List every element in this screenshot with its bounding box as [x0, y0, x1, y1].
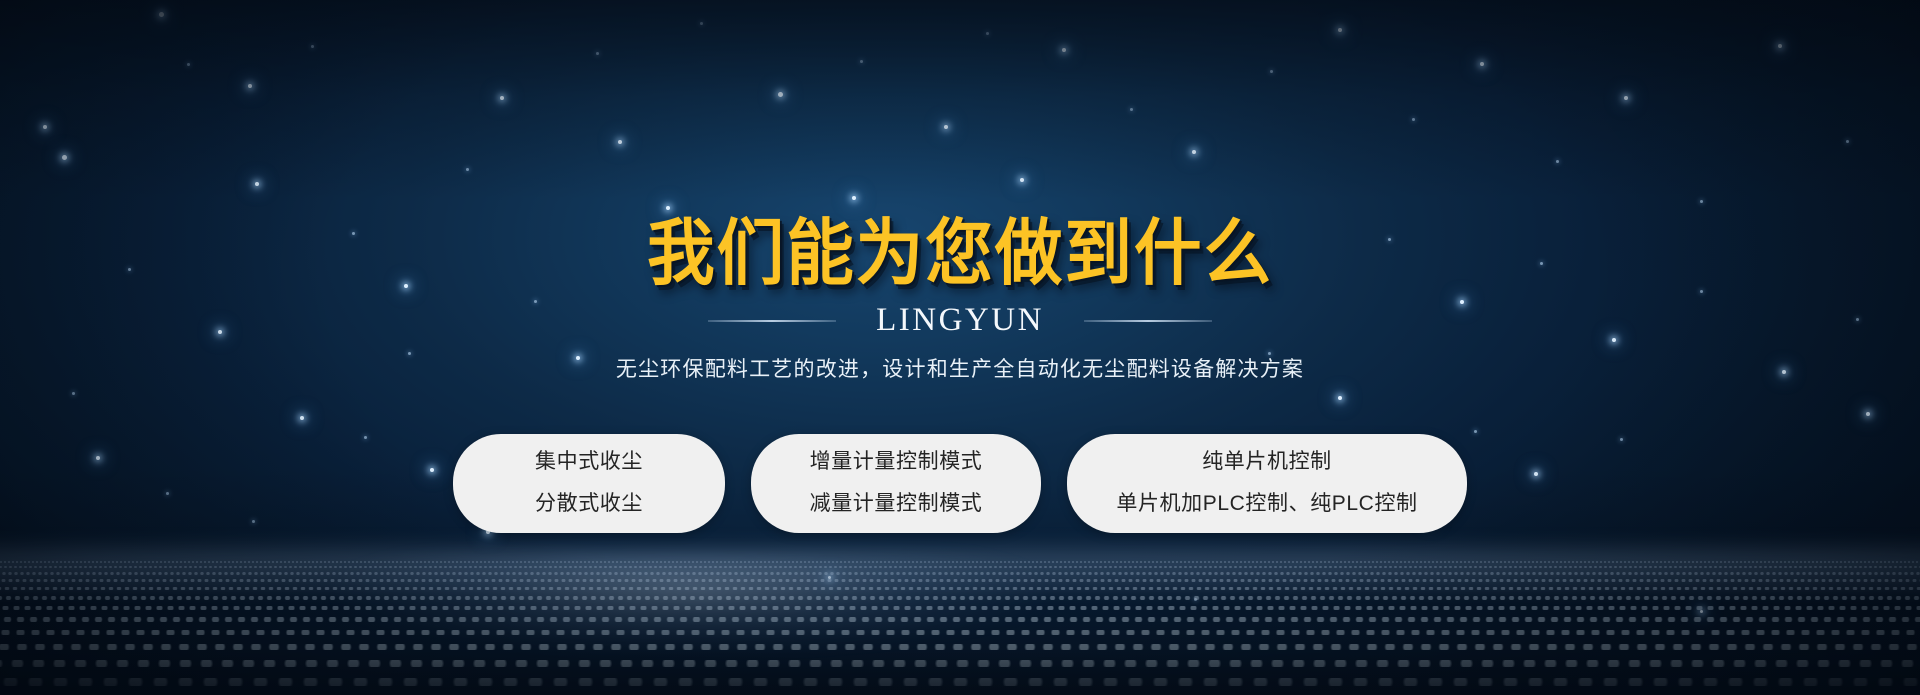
page-title: 我们能为您做到什么 [647, 218, 1273, 290]
feature-pill-dust-collection[interactable]: 集中式收尘 分散式收尘 [453, 434, 725, 533]
feature-pill-line-2: 分散式收尘 [535, 493, 643, 514]
feature-pill-group: 集中式收尘 分散式收尘 增量计量控制模式 减量计量控制模式 纯单片机控制 单片机… [453, 434, 1467, 533]
feature-pill-line-2: 单片机加PLC控制、纯PLC控制 [1116, 493, 1417, 514]
feature-pill-control-system[interactable]: 纯单片机控制 单片机加PLC控制、纯PLC控制 [1067, 434, 1467, 533]
feature-pill-metering-mode[interactable]: 增量计量控制模式 减量计量控制模式 [751, 434, 1041, 533]
feature-pill-line-1: 纯单片机控制 [1202, 451, 1332, 472]
banner-description: 无尘环保配料工艺的改进，设计和生产全自动化无尘配料设备解决方案 [616, 359, 1304, 380]
brand-latin-name: LINGYUN [876, 304, 1044, 337]
hero-banner: 我们能为您做到什么 LINGYUN 无尘环保配料工艺的改进，设计和生产全自动化无… [0, 0, 1920, 695]
brand-subtitle-row: LINGYUN [708, 304, 1212, 337]
feature-pill-line-1: 增量计量控制模式 [810, 451, 983, 472]
feature-pill-line-2: 减量计量控制模式 [810, 493, 983, 514]
feature-pill-line-1: 集中式收尘 [535, 451, 643, 472]
banner-content: 我们能为您做到什么 LINGYUN 无尘环保配料工艺的改进，设计和生产全自动化无… [0, 0, 1920, 695]
divider-line-left [708, 320, 836, 322]
divider-line-right [1084, 320, 1212, 322]
